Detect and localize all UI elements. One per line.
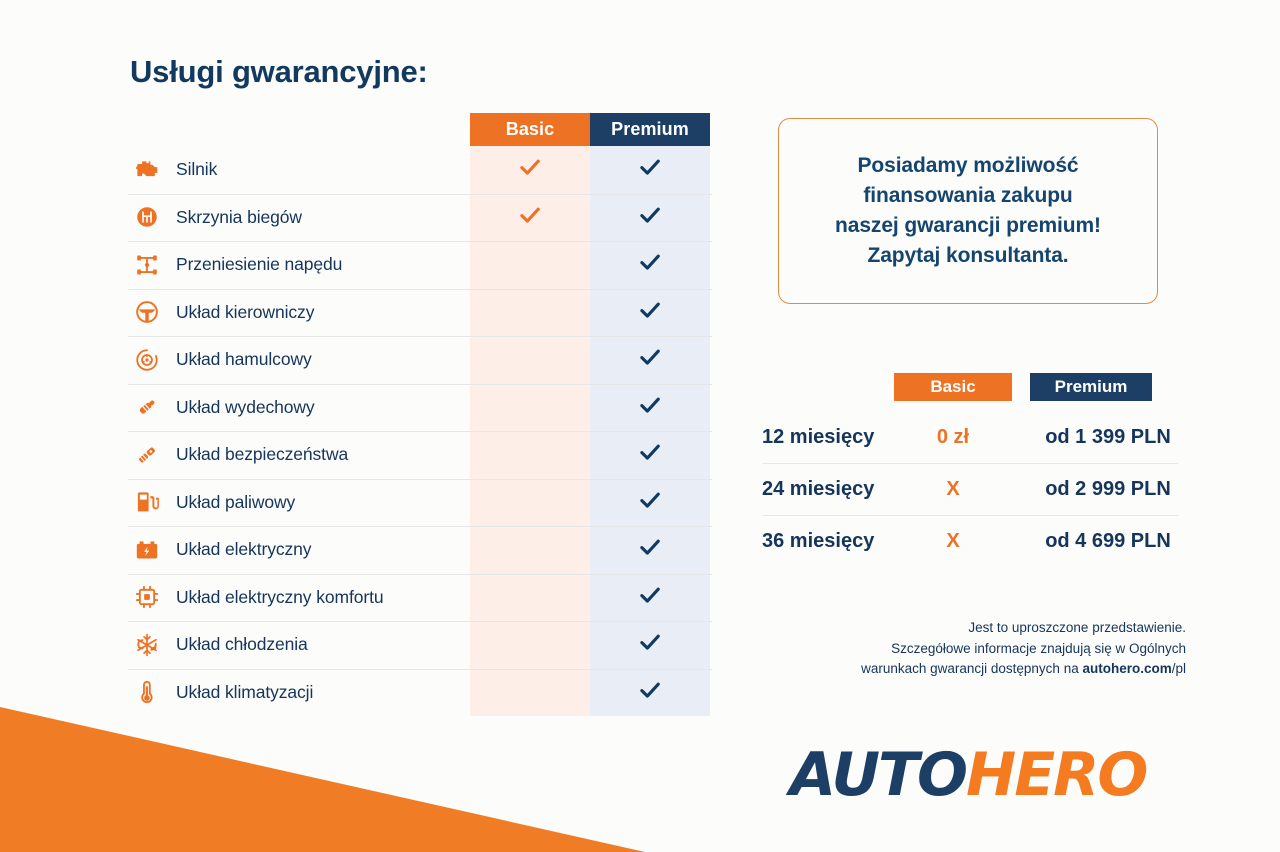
steering-wheel-icon (132, 297, 162, 327)
feature-label-cell: Układ elektryczny (128, 535, 470, 565)
basic-cell (470, 154, 590, 185)
table-row: Układ kierowniczy (128, 289, 712, 337)
premium-cell (590, 629, 710, 660)
check-icon (637, 582, 663, 613)
feature-label: Układ elektryczny (176, 539, 311, 560)
feature-label-cell: Układ wydechowy (128, 392, 470, 422)
engine-icon (132, 155, 162, 185)
thermometer-icon (132, 677, 162, 707)
logo-text-auto: AUTO (790, 740, 966, 810)
callout-line-2: finansowania zakupu (863, 181, 1072, 211)
pricing-basic-value: X (894, 478, 1012, 501)
check-icon (637, 629, 663, 660)
feature-label-cell: Układ kierowniczy (128, 297, 470, 327)
basic-cell (470, 487, 590, 518)
disclaimer-text: Jest to uproszczone przedstawienie. Szcz… (738, 618, 1186, 680)
feature-label: Układ hamulcowy (176, 349, 312, 370)
features-table: Basic Premium SilnikSkrzynia biegówPrzen… (128, 113, 712, 716)
battery-icon (132, 535, 162, 565)
premium-cell (590, 344, 710, 375)
pricing-row: 12 miesięcy0 złod 1 399 PLN (750, 411, 1186, 463)
premium-cell (590, 534, 710, 565)
callout-line-1: Posiadamy możliwość (857, 151, 1078, 181)
pricing-header-gap (1012, 373, 1030, 401)
feature-label: Układ wydechowy (176, 397, 315, 418)
premium-cell (590, 154, 710, 185)
pricing-column-header-premium: Premium (1030, 373, 1152, 401)
callout-line-4: Zapytaj konsultanta. (867, 241, 1068, 271)
poster-canvas: Usługi gwarancyjne: Basic Premium Silnik… (0, 0, 1280, 852)
feature-label: Silnik (176, 159, 217, 180)
pricing-term: 24 miesięcy (750, 478, 894, 501)
disclaimer-line-2: Szczegółowe informacje znajdują się w Og… (738, 639, 1186, 660)
callout-line-3: naszej gwarancji premium! (835, 211, 1101, 241)
table-row: Układ chłodzenia (128, 621, 712, 669)
feature-label: Układ kierowniczy (176, 302, 314, 323)
table-row: Układ hamulcowy (128, 336, 712, 384)
basic-cell (470, 297, 590, 328)
premium-cell (590, 487, 710, 518)
page-title: Usługi gwarancyjne: (130, 55, 712, 89)
table-row: Układ wydechowy (128, 384, 712, 432)
feature-label-cell: Układ elektryczny komfortu (128, 582, 470, 612)
pricing-term: 36 miesięcy (750, 530, 894, 553)
feature-label-cell: Skrzynia biegów (128, 202, 470, 232)
autohero-logo: AUTOHERO (758, 745, 1178, 805)
premium-cell (590, 297, 710, 328)
basic-cell (470, 582, 590, 613)
premium-cell (590, 439, 710, 470)
table-row: Układ elektryczny (128, 526, 712, 574)
check-icon (637, 344, 663, 375)
feature-label-cell: Układ klimatyzacji (128, 677, 470, 707)
pricing-premium-value: od 2 999 PLN (1030, 478, 1186, 501)
pricing-term: 12 miesięcy (750, 426, 894, 449)
logo-text-hero: HERO (966, 740, 1146, 810)
check-icon (637, 677, 663, 708)
feature-label: Układ chłodzenia (176, 634, 308, 655)
check-icon (637, 392, 663, 423)
check-icon (517, 202, 543, 233)
table-row: Układ klimatyzacji (128, 669, 712, 717)
header-spacer (128, 113, 470, 146)
pricing-premium-value: od 1 399 PLN (1030, 426, 1186, 449)
feature-label-cell: Przeniesienie napędu (128, 250, 470, 280)
basic-cell (470, 249, 590, 280)
feature-label-cell: Układ chłodzenia (128, 630, 470, 660)
pricing-basic-value: 0 zł (894, 426, 1012, 449)
fuel-pump-icon (132, 487, 162, 517)
basic-cell (470, 629, 590, 660)
check-icon (637, 154, 663, 185)
feature-label: Układ elektryczny komfortu (176, 587, 383, 608)
features-table-header: Basic Premium (128, 113, 712, 146)
pricing-table-header: Basic Premium (750, 373, 1186, 401)
table-row: Układ paliwowy (128, 479, 712, 527)
disclaimer-line-1: Jest to uproszczone przedstawienie. (738, 618, 1186, 639)
pricing-basic-value: X (894, 530, 1012, 553)
pricing-row: 24 miesięcyXod 2 999 PLN (750, 463, 1186, 515)
feature-label-cell: Układ paliwowy (128, 487, 470, 517)
brake-disc-icon (132, 345, 162, 375)
drivetrain-icon (132, 250, 162, 280)
pricing-table: Basic Premium 12 miesięcy0 złod 1 399 PL… (750, 373, 1186, 567)
check-icon (517, 154, 543, 185)
premium-cell (590, 202, 710, 233)
basic-cell (470, 677, 590, 708)
table-row: Przeniesienie napędu (128, 241, 712, 289)
seatbelt-icon (132, 440, 162, 470)
financing-callout-box: Posiadamy możliwość finansowania zakupu … (778, 118, 1158, 304)
gearbox-icon (132, 202, 162, 232)
disclaimer-line-3: warunkach gwarancji dostępnych na autohe… (738, 659, 1186, 680)
premium-cell (590, 249, 710, 280)
basic-cell (470, 392, 590, 423)
pricing-premium-value: od 4 699 PLN (1030, 530, 1186, 553)
premium-cell (590, 677, 710, 708)
snowflake-icon (132, 630, 162, 660)
basic-cell (470, 202, 590, 233)
feature-label: Układ bezpieczeństwa (176, 444, 348, 465)
basic-cell (470, 344, 590, 375)
feature-label: Układ klimatyzacji (176, 682, 313, 703)
feature-label-cell: Silnik (128, 155, 470, 185)
autohero-link-path[interactable]: /pl (1172, 661, 1186, 676)
feature-label-cell: Układ bezpieczeństwa (128, 440, 470, 470)
table-row: Układ bezpieczeństwa (128, 431, 712, 479)
feature-label-cell: Układ hamulcowy (128, 345, 470, 375)
pricing-column-header-basic: Basic (894, 373, 1012, 401)
pricing-table-body: 12 miesięcy0 złod 1 399 PLN24 miesięcyXo… (750, 411, 1186, 567)
premium-cell (590, 582, 710, 613)
pricing-header-spacer (750, 373, 894, 401)
basic-cell (470, 439, 590, 470)
table-row: Skrzynia biegów (128, 194, 712, 242)
feature-label: Skrzynia biegów (176, 207, 302, 228)
feature-label: Układ paliwowy (176, 492, 295, 513)
check-icon (637, 439, 663, 470)
table-row: Układ elektryczny komfortu (128, 574, 712, 622)
features-table-body: SilnikSkrzynia biegówPrzeniesienie napęd… (128, 146, 712, 716)
column-header-basic: Basic (470, 113, 590, 146)
table-row: Silnik (128, 146, 712, 194)
feature-label: Przeniesienie napędu (176, 254, 342, 275)
basic-cell (470, 534, 590, 565)
exhaust-icon (132, 392, 162, 422)
autohero-link-domain[interactable]: autohero.com (1082, 661, 1171, 676)
warranty-services-section: Usługi gwarancyjne: Basic Premium Silnik… (128, 55, 712, 716)
check-icon (637, 202, 663, 233)
disclaimer-line-3-prefix: warunkach gwarancji dostępnych na (861, 661, 1082, 676)
premium-cell (590, 392, 710, 423)
column-header-premium: Premium (590, 113, 710, 146)
check-icon (637, 249, 663, 280)
chip-icon (132, 582, 162, 612)
pricing-row: 36 miesięcyXod 4 699 PLN (750, 515, 1186, 567)
check-icon (637, 297, 663, 328)
check-icon (637, 487, 663, 518)
check-icon (637, 534, 663, 565)
